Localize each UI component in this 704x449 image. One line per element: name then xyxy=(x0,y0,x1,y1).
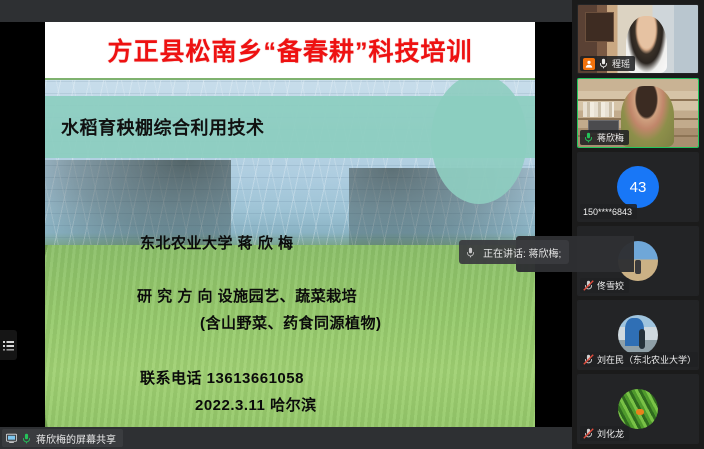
participant-name-label: 佟雪姣 xyxy=(597,279,624,292)
shared-screen-stage: 方正县松南乡“备春耕”科技培训 水稻育秧棚综合利用技术 东北农业大学 蒋 欣 梅… xyxy=(0,0,572,449)
microphone-muted-icon xyxy=(583,354,594,365)
participant-name-label: 程瑶 xyxy=(612,57,630,70)
participant-filmstrip[interactable]: 程瑶 蒋欣梅 xyxy=(572,0,704,449)
avatar: 43 xyxy=(617,166,659,208)
screen-share-status-label: 蒋欣梅的屏幕共享 xyxy=(36,431,116,446)
slide-line-date: 2022.3.11 哈尔滨 xyxy=(195,394,535,415)
microphone-muted-icon xyxy=(583,280,594,291)
speaking-indicator-label: 正在讲话: 蒋欣梅; xyxy=(483,245,561,260)
avatar xyxy=(618,389,658,429)
stage-top-band xyxy=(0,0,572,22)
slide-subtitle: 水稻育秧棚综合利用技术 xyxy=(61,114,265,140)
participant-tile[interactable]: 程瑶 xyxy=(577,4,699,74)
bottom-status-bar: 蒋欣梅的屏幕共享 xyxy=(0,427,572,449)
slide-line-research-sub: (含山野菜、药食同源植物) xyxy=(200,312,535,333)
slide-line-phone: 联系电话 13613661058 xyxy=(140,367,535,388)
participant-name-chip: 150****6843 xyxy=(580,204,637,219)
slide-subtitle-bar: 水稻育秧棚综合利用技术 xyxy=(45,96,535,158)
screen-share-status-chip[interactable]: 蒋欣梅的屏幕共享 xyxy=(2,429,123,447)
slide-title: 方正县松南乡“备春耕”科技培训 xyxy=(107,32,472,68)
participant-name-chip: 刘化龙 xyxy=(580,426,629,441)
microphone-icon xyxy=(465,247,476,258)
participant-tile-active-speaker[interactable]: 蒋欣梅 xyxy=(577,78,699,148)
avatar xyxy=(618,315,658,355)
microphone-on-icon xyxy=(583,132,594,143)
participant-tile[interactable]: 刘化龙 xyxy=(577,374,699,444)
participants-list-icon[interactable] xyxy=(0,330,17,360)
shared-slide: 方正县松南乡“备春耕”科技培训 水稻育秧棚综合利用技术 东北农业大学 蒋 欣 梅… xyxy=(45,22,535,427)
participant-name-chip: 刘在民（东北农业大学） xyxy=(580,352,698,367)
participant-name-label: 刘在民（东北农业大学） xyxy=(597,353,696,366)
participant-name-chip: 程瑶 xyxy=(580,56,635,71)
slide-title-band: 方正县松南乡“备春耕”科技培训 xyxy=(45,22,535,80)
participant-name-label: 刘化龙 xyxy=(597,427,624,440)
microphone-muted-icon xyxy=(583,428,594,439)
screen-share-icon xyxy=(6,433,17,444)
host-badge-icon xyxy=(583,58,595,70)
participant-tile[interactable]: 43 150****6843 xyxy=(577,152,699,222)
participant-name-chip: 佟雪姣 xyxy=(580,278,629,293)
participant-name-chip: 蒋欣梅 xyxy=(580,130,629,145)
participant-tile[interactable]: 刘在民（东北农业大学） xyxy=(577,300,699,370)
microphone-icon xyxy=(598,58,609,69)
participant-name-label: 蒋欣梅 xyxy=(597,131,624,144)
slide-line-research: 研 究 方 向 设施园艺、蔬菜栽培 xyxy=(137,285,535,306)
conference-window: 方正县松南乡“备春耕”科技培训 水稻育秧棚综合利用技术 东北农业大学 蒋 欣 梅… xyxy=(0,0,704,449)
participant-name-label: 150****6843 xyxy=(583,207,632,217)
microphone-on-icon xyxy=(21,433,32,444)
speaking-indicator-toast: 正在讲话: 蒋欣梅; xyxy=(459,240,569,264)
